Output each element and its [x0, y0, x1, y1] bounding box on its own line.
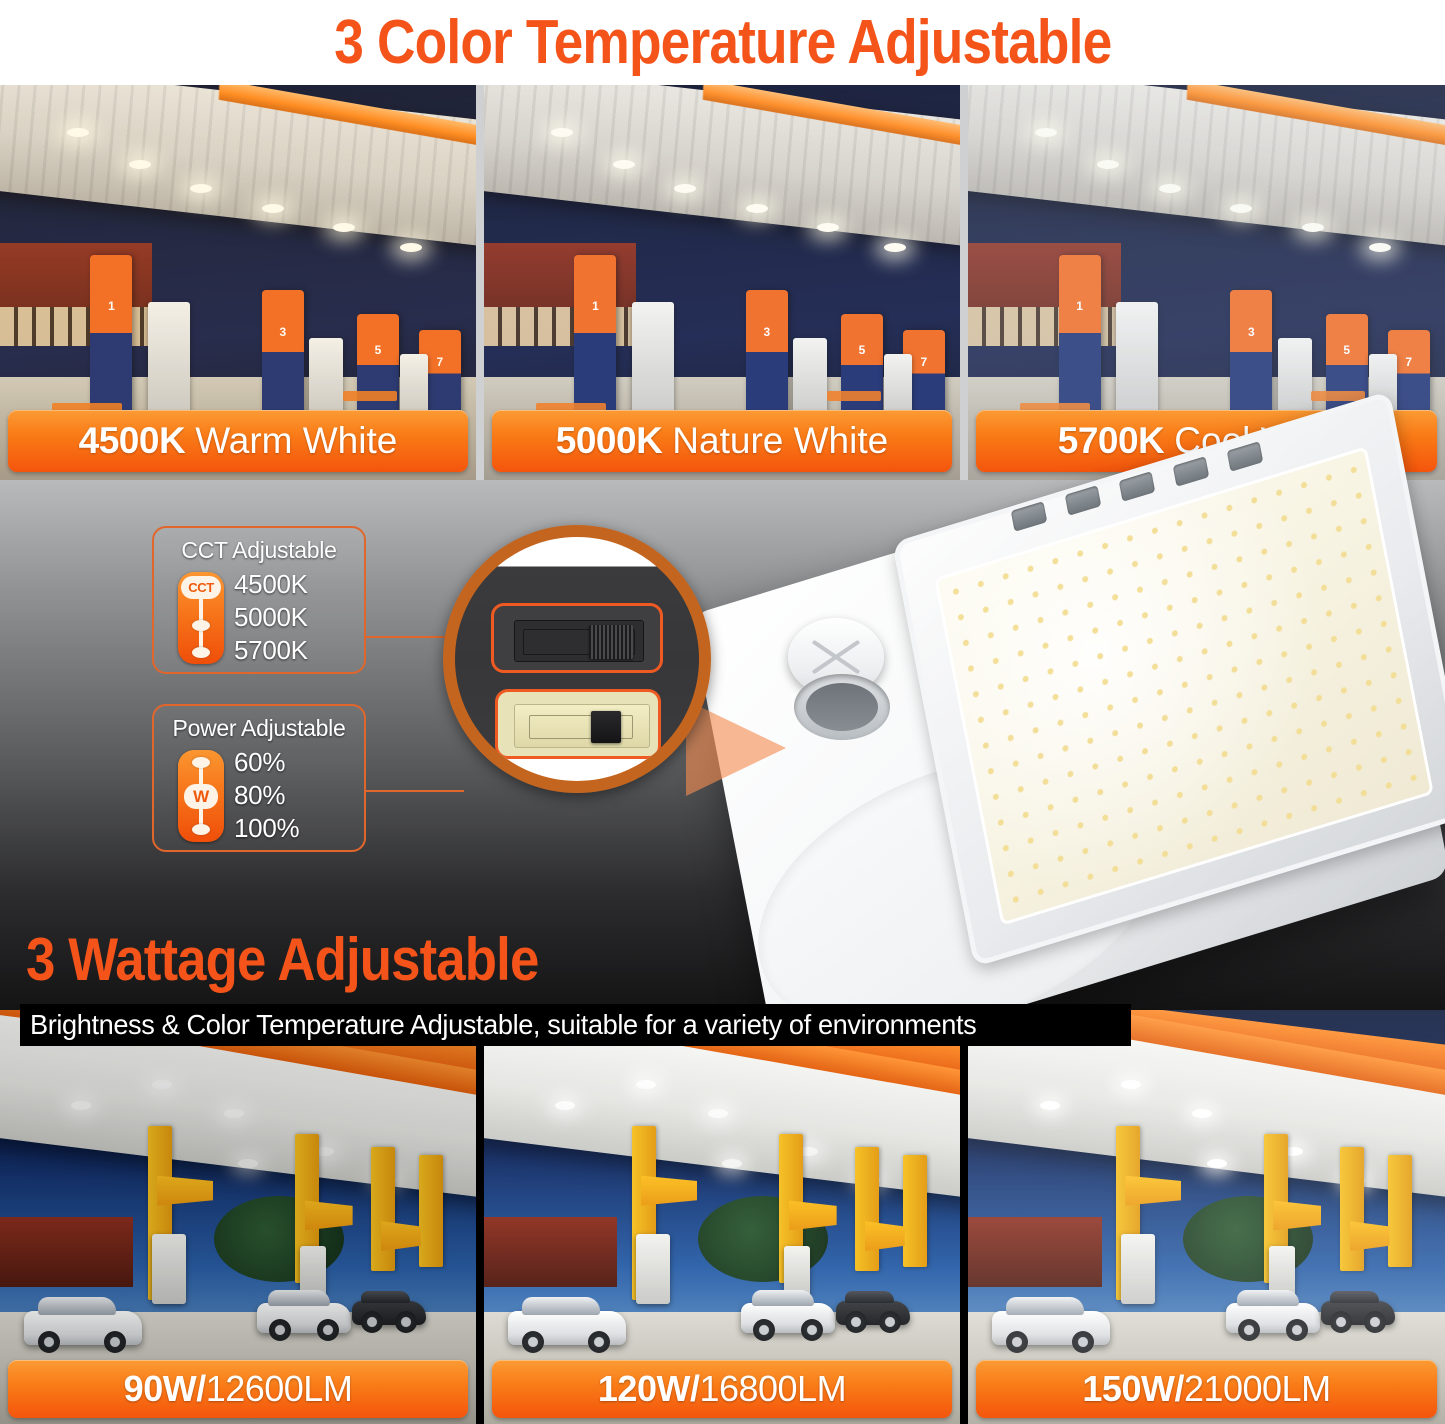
wattage-label-120w: 120W/ 16800LM	[492, 1360, 952, 1418]
wattage-value: 120W/	[598, 1368, 700, 1410]
cct-panel-4500k[interactable]: 1 3 5 7 4500K Warm White	[0, 85, 476, 480]
cct-temp-value: 4500K	[79, 420, 186, 462]
wattage-label-90w: 90W/ 12600LM	[8, 1360, 468, 1418]
wattage-panel-90w[interactable]: 90W/ 12600LM	[0, 1010, 476, 1424]
cct-options-list: 4500K 5000K 5700K	[234, 568, 308, 667]
page-header: 3 Color Temperature Adjustable	[0, 0, 1445, 85]
cct-adjustable-info-box: CCT Adjustable CCT 4500K 5000K 5700K	[152, 526, 366, 674]
cct-panel-5000k[interactable]: 1 3 5 7 5000K Nature White	[484, 85, 960, 480]
power-options-list: 60% 80% 100%	[234, 746, 299, 845]
wattage-badge-icon: W	[178, 750, 224, 842]
magnifier-pointer-icon	[686, 700, 786, 796]
wattage-value: 90W/	[124, 1368, 206, 1410]
cct-box-title: CCT Adjustable	[154, 537, 364, 564]
cct-option: 5700K	[234, 634, 308, 667]
wattage-badge-label: W	[184, 784, 218, 809]
power-option: 80%	[234, 779, 299, 812]
photocell-socket	[794, 674, 890, 740]
cct-temp-name: Warm White	[195, 420, 397, 462]
lumen-value: 16800LM	[699, 1368, 846, 1410]
wattage-value: 150W/	[1082, 1368, 1184, 1410]
power-adjustable-info-box: Power Adjustable W 60% 80% 100%	[152, 704, 366, 852]
wattage-gallery: 90W/ 12600LM	[0, 1010, 1445, 1424]
color-temperature-gallery: 1 3 5 7 4500K Warm White	[0, 85, 1445, 480]
cct-label-4500k: 4500K Warm White	[8, 410, 468, 472]
power-dip-switch-highlight[interactable]	[495, 689, 661, 759]
cct-option: 4500K	[234, 568, 308, 601]
wattage-label-150w: 150W/ 21000LM	[976, 1360, 1437, 1418]
wattage-panel-150w[interactable]: 150W/ 21000LM	[968, 1010, 1445, 1424]
led-canopy-light-product	[690, 470, 1445, 1030]
page-title: 3 Color Temperature Adjustable	[334, 7, 1111, 78]
subtitle-text: Brightness & Color Temperature Adjustabl…	[30, 1009, 976, 1041]
cct-option: 5000K	[234, 601, 308, 634]
cct-temp-value: 5000K	[556, 420, 663, 462]
lumen-value: 12600LM	[206, 1368, 353, 1410]
power-box-title: Power Adjustable	[154, 715, 364, 742]
wattage-section-title: 3 Wattage Adjustable	[26, 925, 538, 994]
cct-badge-icon: CCT	[178, 572, 224, 664]
cct-temp-name: Nature White	[672, 420, 888, 462]
cct-dip-switch-highlight[interactable]	[491, 603, 663, 673]
lumen-value: 21000LM	[1184, 1368, 1331, 1410]
power-option: 100%	[234, 812, 299, 845]
power-option: 60%	[234, 746, 299, 779]
wattage-panel-120w[interactable]: 120W/ 16800LM	[484, 1010, 960, 1424]
subtitle-bar: Brightness & Color Temperature Adjustabl…	[20, 1004, 1131, 1046]
switch-magnifier	[443, 525, 711, 793]
cct-label-5000k: 5000K Nature White	[492, 410, 952, 472]
cct-badge-label: CCT	[181, 576, 221, 599]
cct-temp-value: 5700K	[1058, 420, 1165, 462]
connector-line-power	[366, 790, 464, 792]
